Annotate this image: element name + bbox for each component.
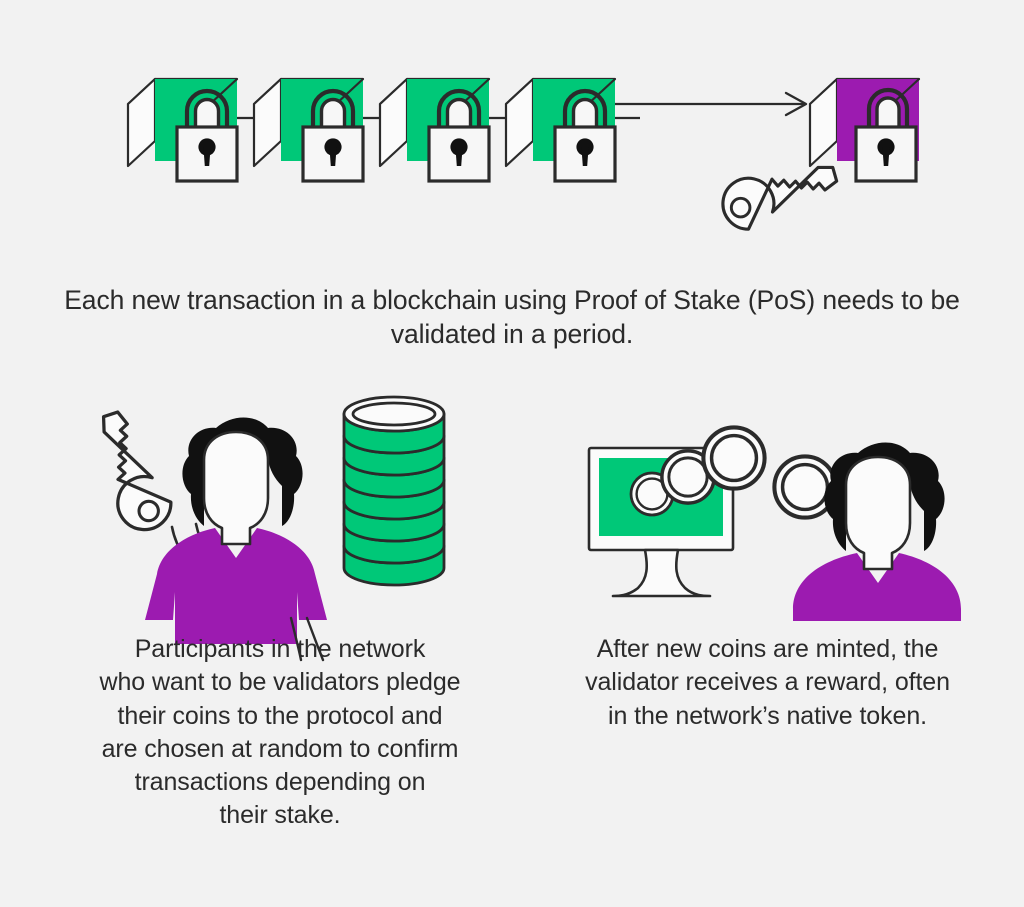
top-caption: Each new transaction in a blockchain usi… [62,283,962,352]
padlock-closed-icon [303,91,363,181]
left-panel-caption: Participants in the network who want to … [55,633,505,833]
key-icon [103,410,171,531]
coin-icon [703,427,764,488]
validator-pledge-illustration [103,397,444,660]
coin-minting-reward-illustration [589,427,961,621]
blockchain-chain-illustration [128,79,919,229]
padlock-closed-icon [429,91,489,181]
right-panel-caption: After new coins are minted, the validato… [540,633,995,733]
validator-person-icon [145,418,327,661]
padlock-closed-icon [177,91,237,181]
coin-stack-icon [344,397,444,585]
padlock-closed-icon [555,91,615,181]
infographic-canvas: Each new transaction in a blockchain usi… [0,0,1024,907]
arrow-right-icon [597,93,806,115]
key-icon [723,167,837,229]
